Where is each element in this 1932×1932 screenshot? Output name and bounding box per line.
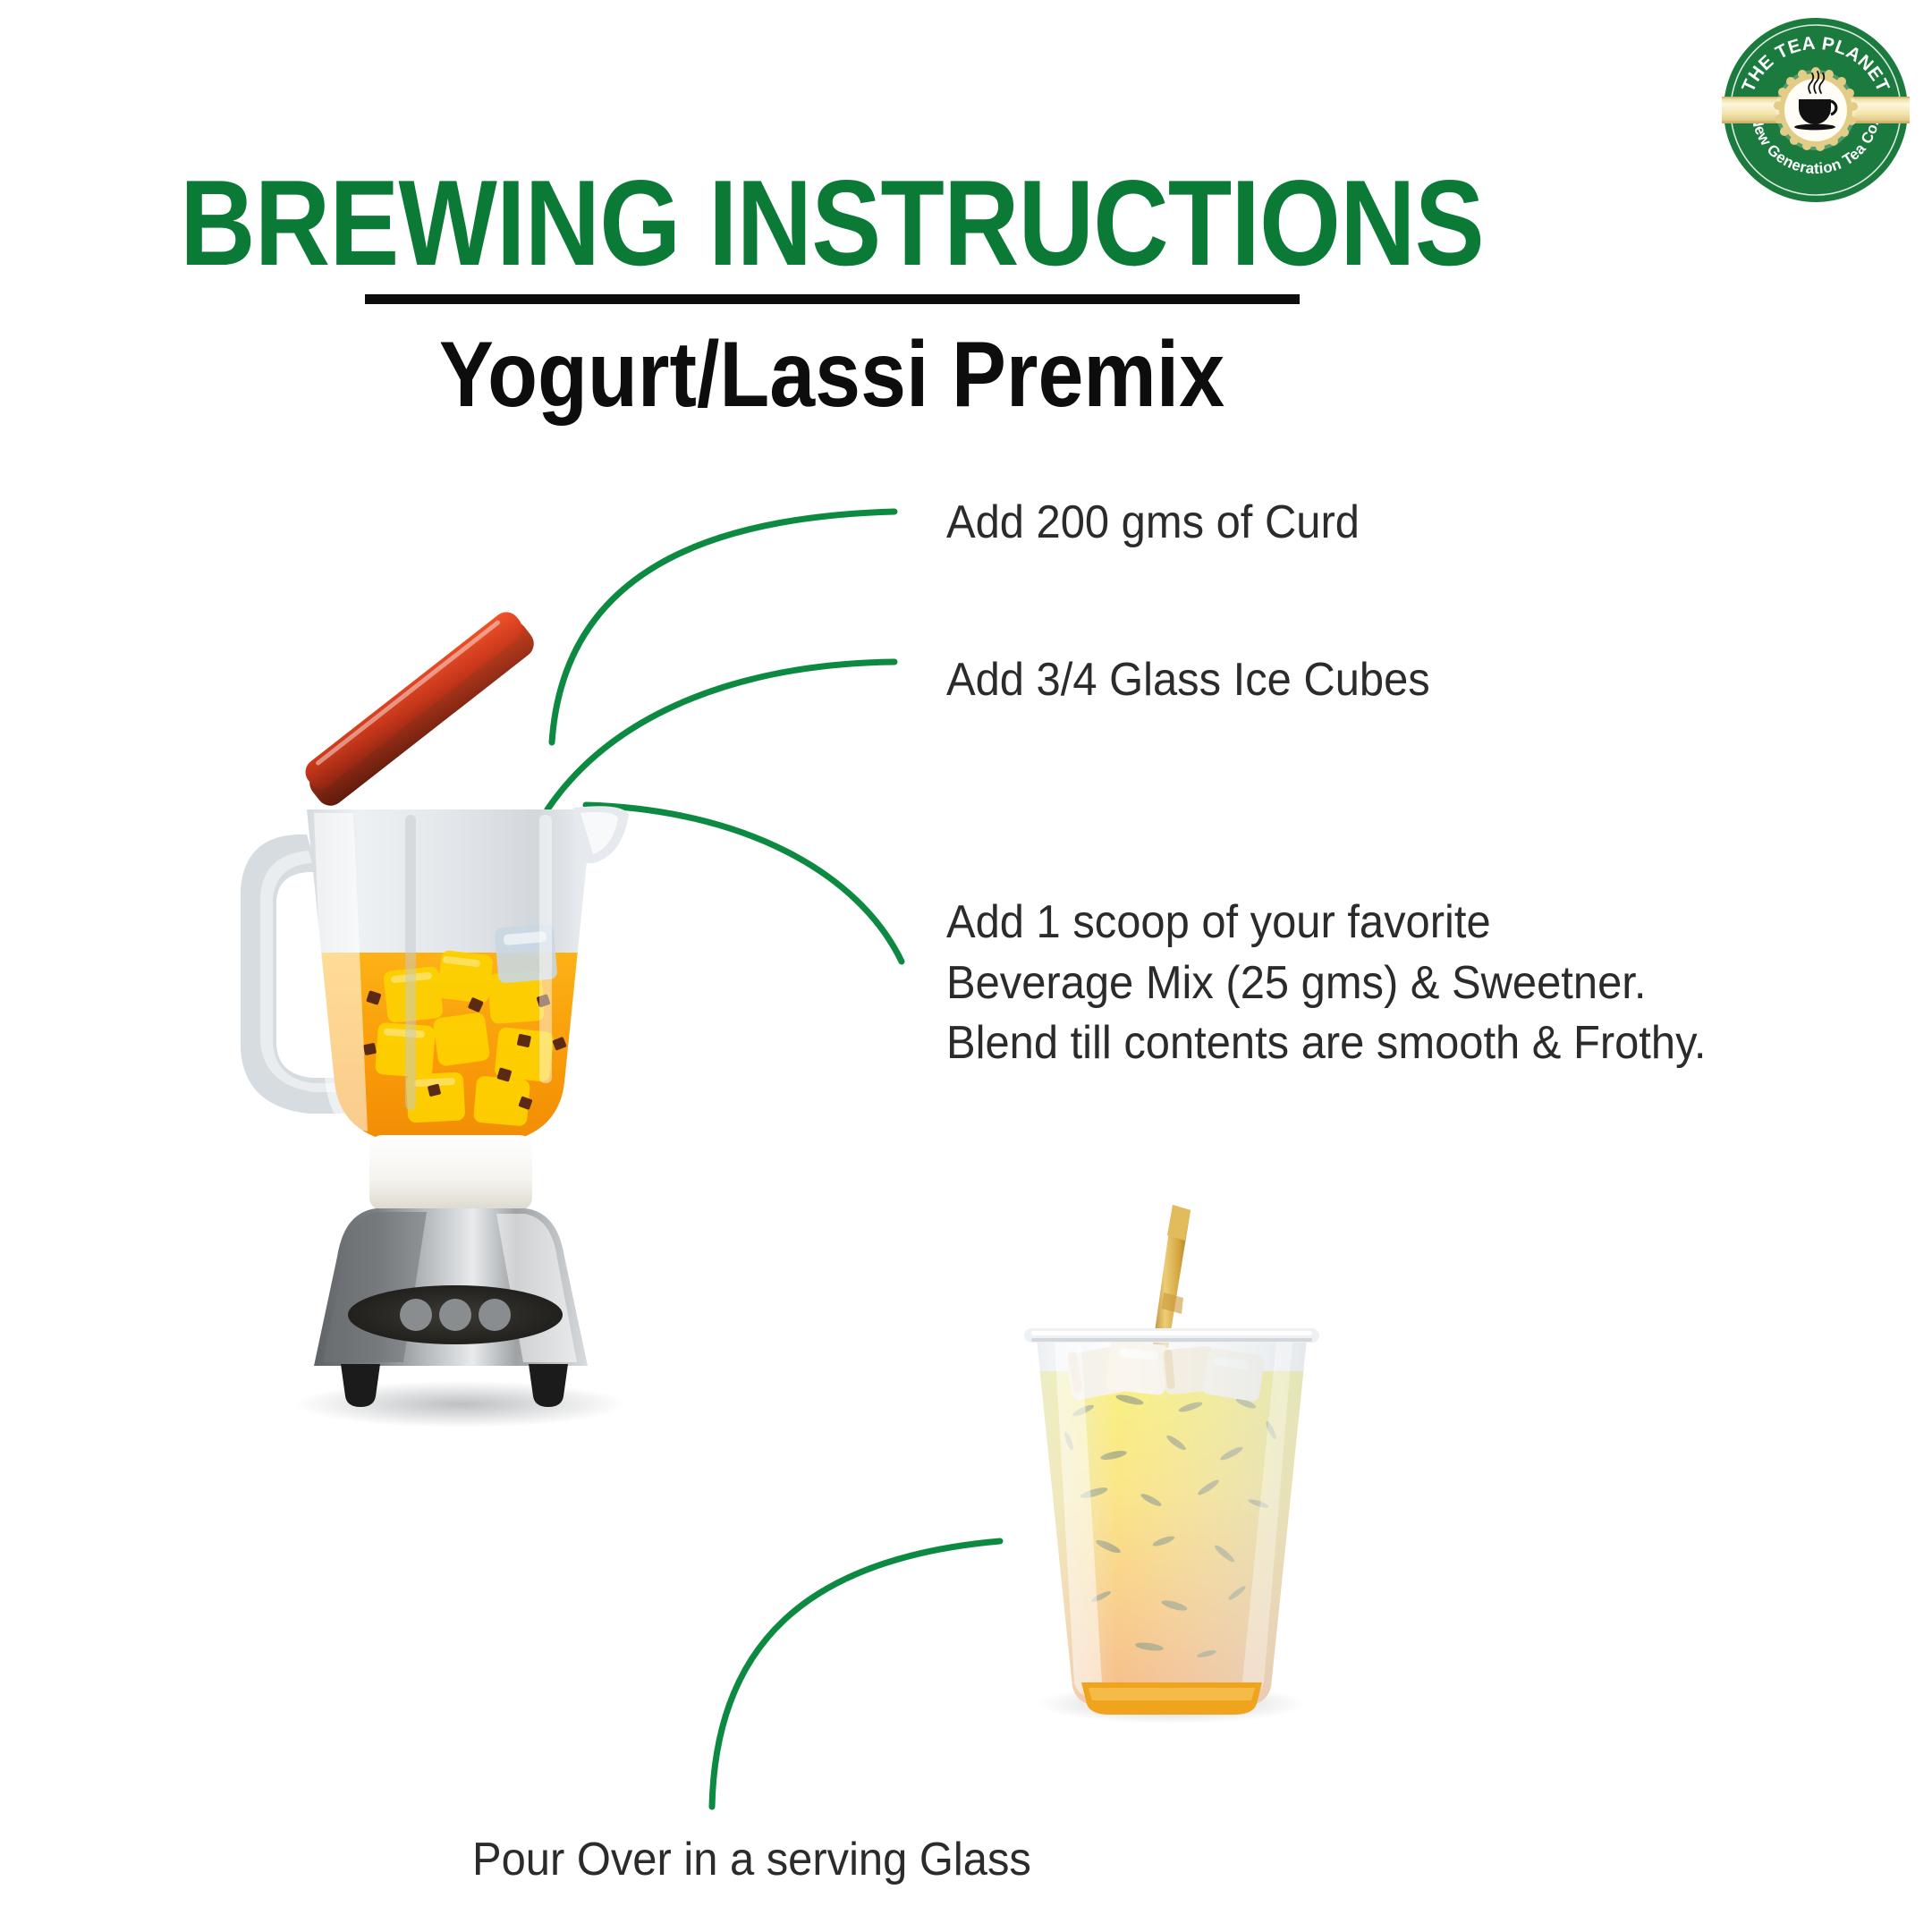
step-3-line-3: Blend till contents are smooth & Frothy. <box>946 1013 1706 1074</box>
step-3-line-2: Beverage Mix (25 gms) & Sweetner. <box>946 953 1706 1014</box>
page-subtitle: Yogurt/Lassi Premix <box>100 322 1564 428</box>
blender-foot-left <box>341 1364 380 1407</box>
blender-foot-right <box>529 1364 568 1407</box>
blender-illustration <box>201 595 720 1458</box>
step-3-line-1: Add 1 scoop of your favorite <box>946 893 1706 953</box>
blender-button-3[interactable] <box>479 1299 511 1331</box>
jar-collar <box>369 1135 532 1210</box>
brand-logo: THE TEA PLANET New Generation Tea Co., <box>1722 16 1910 204</box>
poster-canvas: THE TEA PLANET New Generation Tea Co., <box>0 0 1932 1932</box>
title-underline <box>365 294 1300 304</box>
connector-arc-4 <box>712 1541 1000 1807</box>
step-4-label: Pour Over in a serving Glass <box>472 1830 1031 1891</box>
blender-button-1[interactable] <box>400 1299 432 1331</box>
step-3-label: Add 1 scoop of your favorite Beverage Mi… <box>946 893 1706 1074</box>
blender-lid <box>297 606 539 811</box>
header-block: BREWING INSTRUCTIONS Yogurt/Lassi Premix <box>0 161 1664 428</box>
serving-glass-illustration <box>1015 1185 1328 1735</box>
step-2-label: Add 3/4 Glass Ice Cubes <box>946 650 1430 711</box>
blender-button-2[interactable] <box>439 1299 471 1331</box>
step-1-label: Add 200 gms of Curd <box>946 493 1360 554</box>
page-title: BREWING INSTRUCTIONS <box>116 161 1547 285</box>
